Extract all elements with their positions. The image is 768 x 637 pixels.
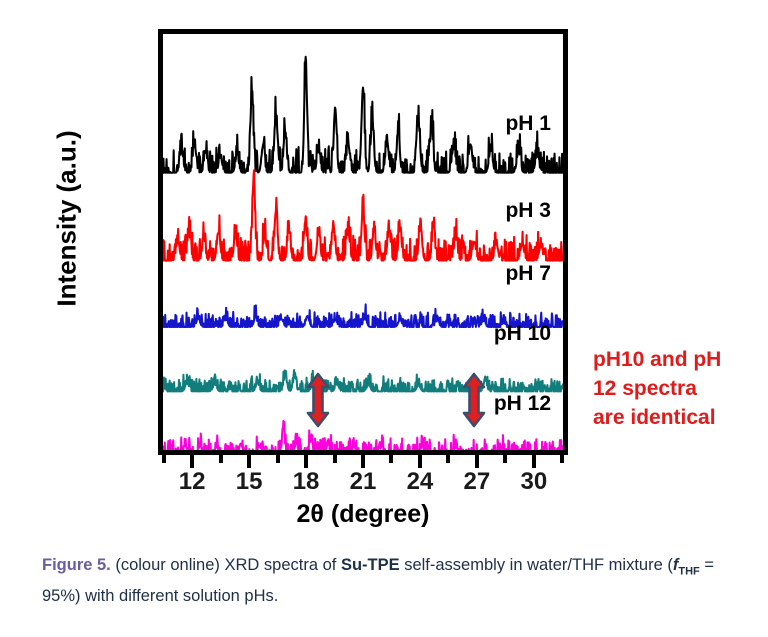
x-tick-minor — [162, 455, 166, 463]
x-tick-label: 21 — [350, 468, 377, 496]
spectrum-trace — [163, 370, 563, 391]
plot-frame: pH 1 pH 3 pH 7 pH 10 pH 12 — [158, 29, 568, 455]
caption-figure-number: Figure 5. — [42, 556, 111, 574]
x-tick-minor — [333, 455, 337, 463]
x-tick-major — [304, 455, 308, 468]
spectra-svg — [163, 34, 563, 450]
x-tick-label: 12 — [179, 468, 206, 496]
series-label-ph7: pH 7 — [505, 262, 551, 286]
spectrum-trace — [163, 170, 563, 260]
x-tick-major — [247, 455, 251, 468]
x-tick-minor — [276, 455, 280, 463]
x-tick-minor — [503, 455, 507, 463]
x-tick-label: 30 — [520, 468, 547, 496]
caption-subscript-thf: THF — [678, 565, 699, 577]
x-tick-minor — [560, 455, 564, 463]
side-annotation: pH10 and pH 12 spectra are identical — [593, 345, 768, 432]
x-tick-minor — [389, 455, 393, 463]
series-label-ph10: pH 10 — [494, 322, 551, 346]
series-label-ph12: pH 12 — [494, 392, 551, 416]
series-label-ph3: pH 3 — [505, 199, 551, 223]
figure-panel: Intensity (a.u.) pH 1 pH 3 pH 7 pH 10 pH… — [0, 0, 768, 540]
spectrum-trace — [163, 421, 563, 450]
side-annotation-line-1: pH10 and pH — [593, 345, 768, 374]
spectrum-trace — [163, 57, 563, 173]
series-label-ph1: pH 1 — [505, 112, 551, 136]
x-axis-tick-labels: 12151821242730 — [158, 468, 568, 498]
side-annotation-line-2: 12 spectra — [593, 374, 768, 403]
x-tick-major — [190, 455, 194, 468]
x-tick-major — [532, 455, 536, 468]
x-tick-major — [475, 455, 479, 468]
x-tick-minor — [219, 455, 223, 463]
caption-text-1: (colour online) XRD spectra of — [111, 556, 341, 574]
x-axis-title: 2θ (degree) — [158, 500, 568, 529]
x-axis-ticks — [158, 455, 568, 469]
double-arrow-icon-left — [305, 372, 331, 428]
y-axis-title: Intensity (a.u.) — [52, 89, 83, 349]
x-tick-label: 27 — [464, 468, 491, 496]
x-tick-label: 24 — [407, 468, 434, 496]
double-arrow-icon-right — [461, 372, 487, 428]
caption-compound-name: Su-TPE — [341, 556, 400, 574]
x-tick-major — [361, 455, 365, 468]
x-tick-major — [418, 455, 422, 468]
x-tick-label: 18 — [293, 468, 320, 496]
x-tick-minor — [446, 455, 450, 463]
side-annotation-line-3: are identical — [593, 403, 768, 432]
caption-text-2: self-assembly in water/THF mixture ( — [400, 556, 673, 574]
figure-caption: Figure 5. (colour online) XRD spectra of… — [42, 553, 722, 609]
x-tick-label: 15 — [236, 468, 263, 496]
